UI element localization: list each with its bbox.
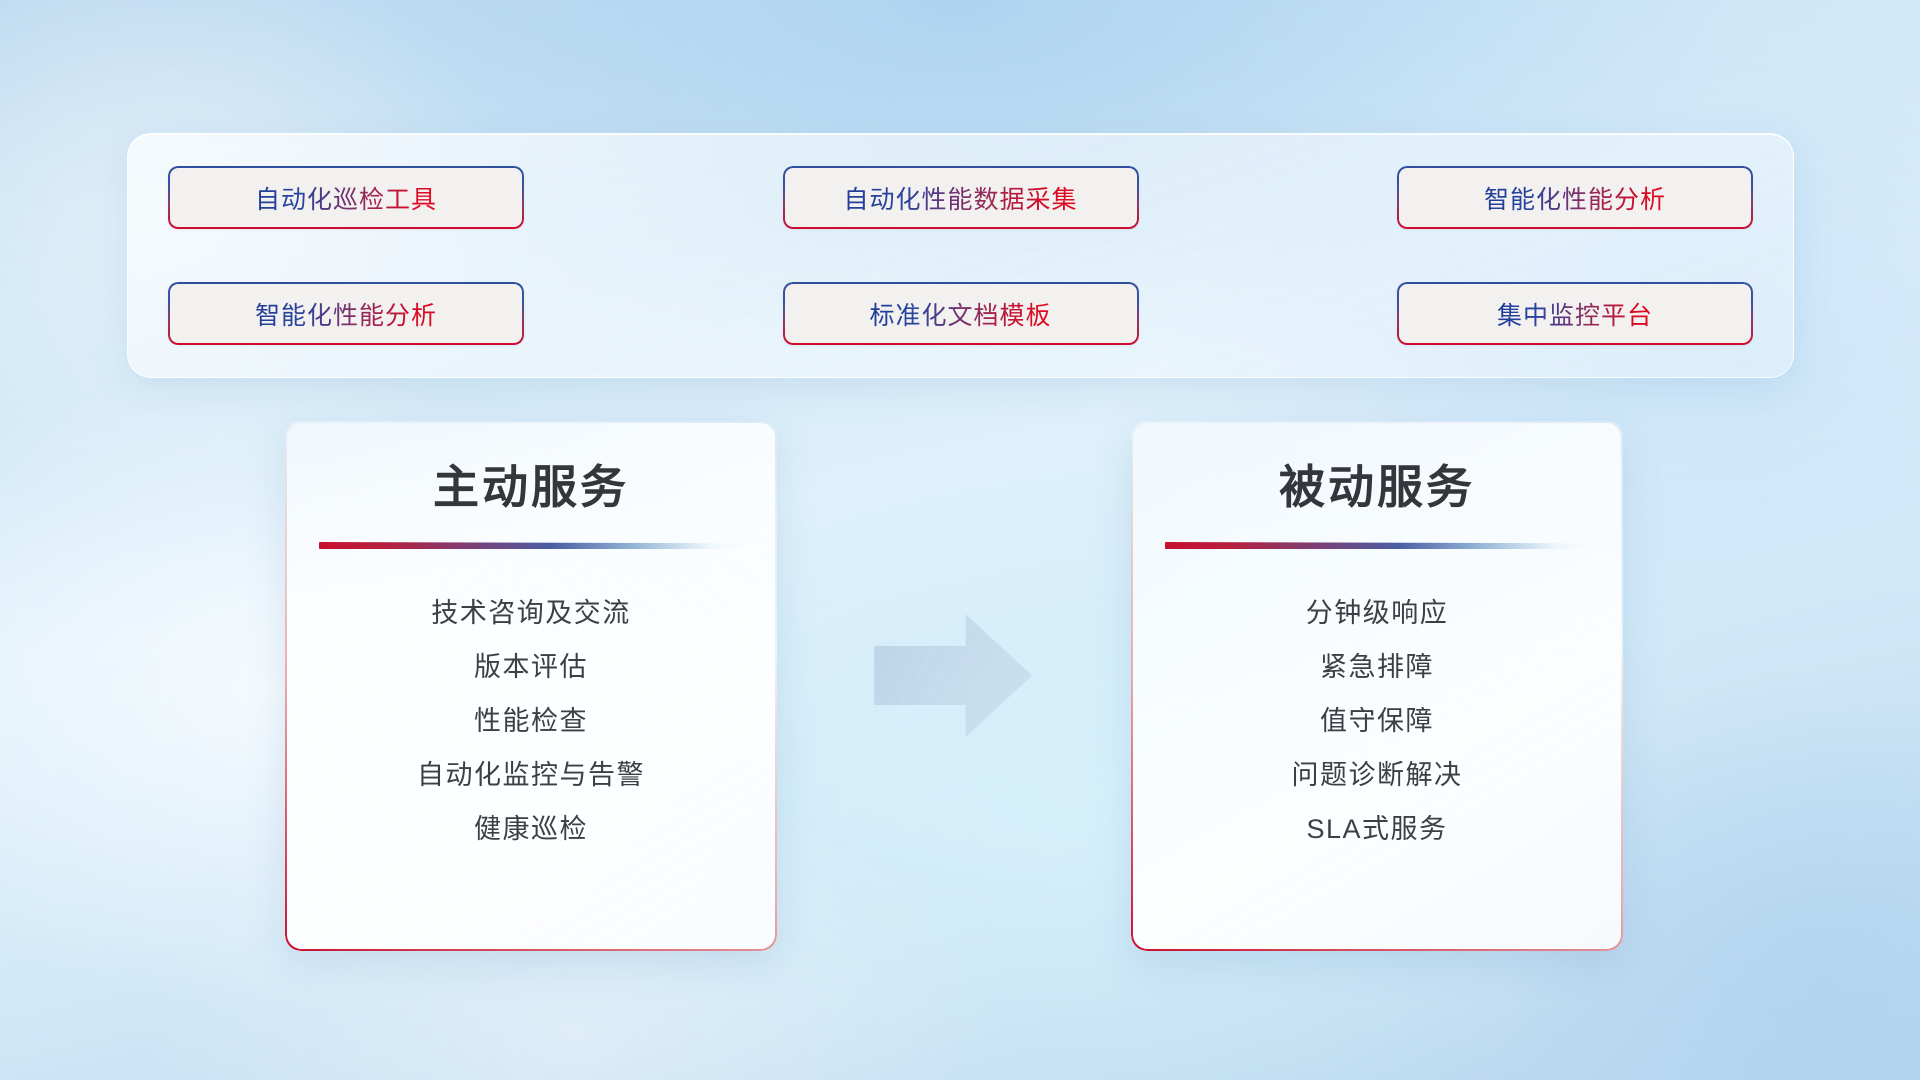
service-item: SLA式服务 <box>1131 803 1623 857</box>
service-item: 技术咨询及交流 <box>285 587 777 641</box>
service-item: 分钟级响应 <box>1131 587 1623 641</box>
service-item-list: 分钟级响应 紧急排障 值守保障 问题诊断解决 SLA式服务 <box>1131 587 1623 857</box>
capability-pill-label: 自动化性能数据采集 <box>843 180 1077 216</box>
capability-pill-label: 智能化性能分析 <box>1484 180 1666 216</box>
title-divider <box>319 542 743 549</box>
service-card-body: 主动服务 技术咨询及交流 版本评估 性能检查 自动化监控与告警 健康巡检 <box>285 421 777 857</box>
capability-pill-grid: 自动化巡检工具 自动化性能数据采集 智能化性能分析 智能化性能分析 标准化文档模… <box>168 166 1753 345</box>
capability-pill-label: 集中监控平台 <box>1497 296 1653 332</box>
capability-pill-label: 智能化性能分析 <box>255 296 437 332</box>
service-item: 值守保障 <box>1131 695 1623 749</box>
service-card-passive: 被动服务 分钟级响应 紧急排障 值守保障 问题诊断解决 SLA式服务 <box>1131 421 1623 951</box>
capability-pill-4[interactable]: 智能化性能分析 <box>168 282 524 345</box>
capability-panel: 自动化巡检工具 自动化性能数据采集 智能化性能分析 智能化性能分析 标准化文档模… <box>127 133 1794 378</box>
service-card-title: 被动服务 <box>1131 451 1623 517</box>
capability-pill-3[interactable]: 智能化性能分析 <box>1397 166 1753 229</box>
service-card-body: 被动服务 分钟级响应 紧急排障 值守保障 问题诊断解决 SLA式服务 <box>1131 421 1623 857</box>
capability-pill-2[interactable]: 自动化性能数据采集 <box>783 166 1139 229</box>
service-item: 性能检查 <box>285 695 777 749</box>
capability-pill-6[interactable]: 集中监控平台 <box>1397 282 1753 345</box>
service-item: 问题诊断解决 <box>1131 749 1623 803</box>
capability-pill-label: 标准化文档模板 <box>869 296 1051 332</box>
service-card-active: 主动服务 技术咨询及交流 版本评估 性能检查 自动化监控与告警 健康巡检 <box>285 421 777 951</box>
service-card-title: 主动服务 <box>285 451 777 517</box>
service-item: 紧急排障 <box>1131 641 1623 695</box>
service-item: 版本评估 <box>285 641 777 695</box>
capability-pill-label: 自动化巡检工具 <box>255 180 437 216</box>
service-item: 自动化监控与告警 <box>285 749 777 803</box>
service-item-list: 技术咨询及交流 版本评估 性能检查 自动化监控与告警 健康巡检 <box>285 587 777 857</box>
title-divider <box>1165 542 1589 549</box>
capability-pill-5[interactable]: 标准化文档模板 <box>783 282 1139 345</box>
capability-pill-1[interactable]: 自动化巡检工具 <box>168 166 524 229</box>
service-item: 健康巡检 <box>285 803 777 857</box>
